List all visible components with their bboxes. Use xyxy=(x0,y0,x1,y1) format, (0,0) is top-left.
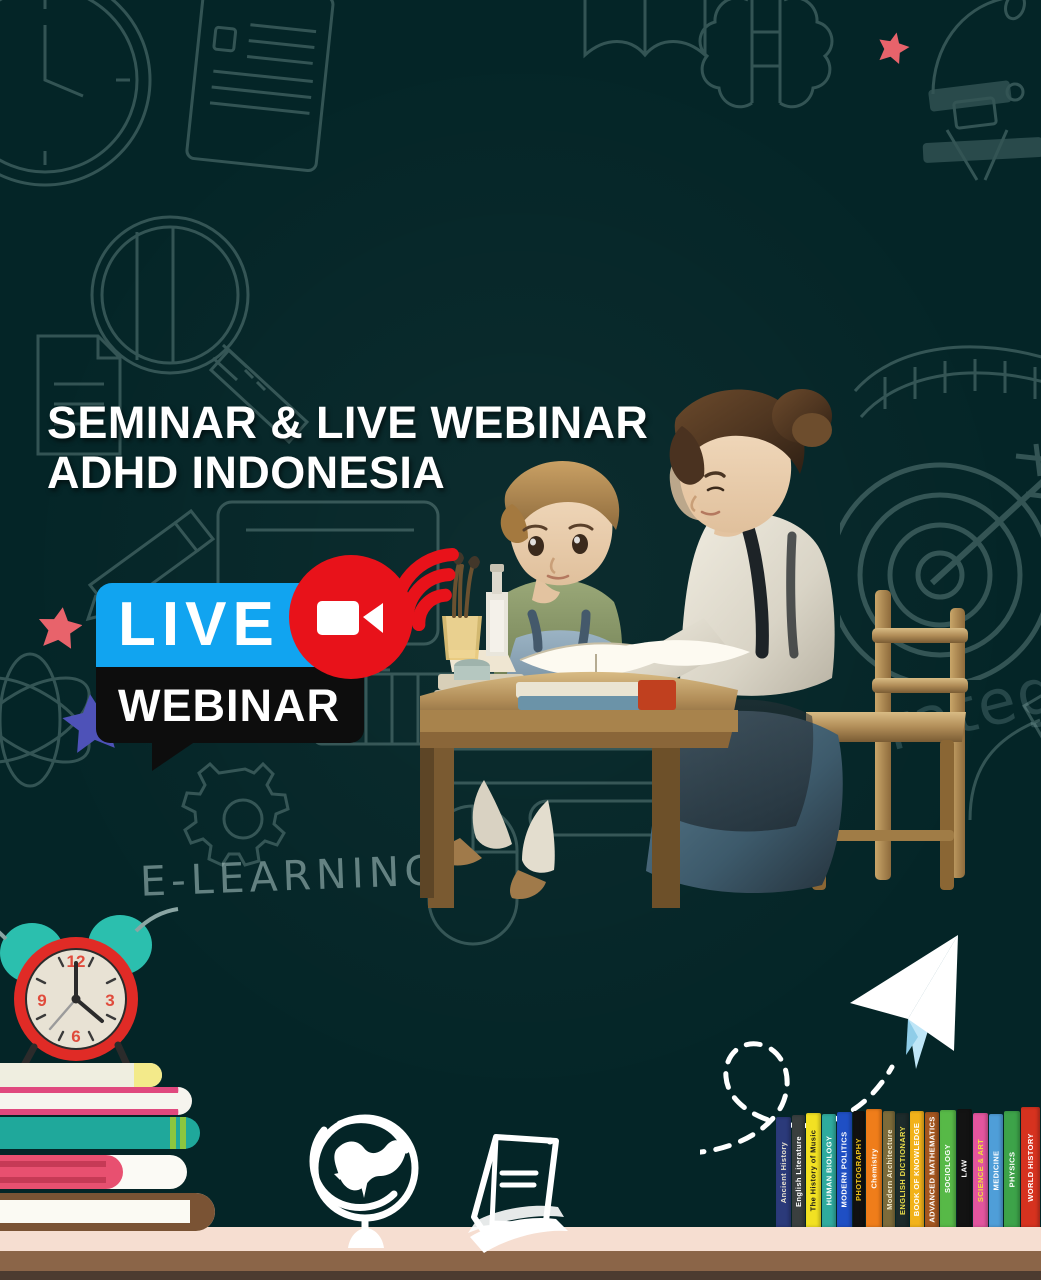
book-spine-title: PHOTOGRAPHY xyxy=(854,1137,863,1200)
star-red-small-icon xyxy=(876,30,910,64)
video-camera-badge[interactable] xyxy=(289,555,413,679)
book-spine-title: MODERN POLITICS xyxy=(840,1131,849,1207)
webinar-label-bar: WEBINAR xyxy=(96,667,364,743)
book-row: Ancient HistoryEnglish LiteratureThe His… xyxy=(776,1107,1041,1227)
webinar-label: WEBINAR xyxy=(118,683,340,728)
book-spine: LAW xyxy=(957,1109,973,1227)
book-spine-title: MEDICINE xyxy=(991,1151,1000,1191)
paper-airplane-icon xyxy=(850,935,958,1069)
book-spine-title: Modern Architecture xyxy=(885,1129,894,1210)
book-spine: MEDICINE xyxy=(989,1114,1004,1227)
book-spine: ENGLISH DICTIONARY xyxy=(896,1113,909,1227)
clipboard-doodle-icon xyxy=(175,0,355,180)
book-spine-title: BOOK OF KNOWLEDGE xyxy=(912,1122,921,1215)
globe-icon xyxy=(300,1102,430,1252)
book-spine-title: Ancient History xyxy=(779,1141,788,1202)
poster-canvas: rateg xyxy=(0,0,1041,1280)
star-red-icon xyxy=(36,604,82,650)
book-spine: The History of Music xyxy=(806,1113,821,1227)
book-spine: Ancient History xyxy=(776,1117,791,1227)
book-spine-title: PHYSICS xyxy=(1007,1151,1016,1187)
book-spine-title: WORLD HISTORY xyxy=(1026,1133,1035,1202)
book-spine: English Literature xyxy=(792,1115,806,1227)
live-label: LIVE xyxy=(118,594,280,656)
svg-text:9: 9 xyxy=(37,991,46,1010)
elearning-chalk-text: E-LEARNING xyxy=(139,846,442,906)
title-line-1: SEMINAR & LIVE WEBINAR xyxy=(47,398,648,448)
book-spine: PHOTOGRAPHY xyxy=(853,1111,866,1227)
brain-doodle-icon xyxy=(680,0,880,160)
book-spine: WORLD HISTORY xyxy=(1021,1107,1040,1227)
svg-text:6: 6 xyxy=(71,1027,80,1046)
book-spine: BOOK OF KNOWLEDGE xyxy=(910,1111,924,1227)
page-title: SEMINAR & LIVE WEBINAR ADHD INDONESIA xyxy=(47,398,648,498)
book-spine-title: English Literature xyxy=(794,1136,803,1207)
alarm-clock-and-books: 12 3 6 9 xyxy=(0,905,284,1280)
book-spine: Chemistry xyxy=(866,1109,882,1227)
live-webinar-badge[interactable]: LIVE WEBINAR xyxy=(96,583,364,743)
clock-doodle-icon xyxy=(0,0,160,195)
microscope-doodle-icon xyxy=(855,0,1041,190)
book-spine: HUMAN BIOLOGY xyxy=(822,1114,837,1227)
gear-doodle-icon xyxy=(180,755,310,885)
book-spine: MODERN POLITICS xyxy=(837,1112,852,1227)
book-spine-title: Chemistry xyxy=(870,1148,879,1188)
svg-text:3: 3 xyxy=(105,991,114,1010)
book-spine-title: SOCIOLOGY xyxy=(943,1144,952,1193)
title-line-2: ADHD INDONESIA xyxy=(47,448,648,498)
video-camera-icon xyxy=(315,593,387,641)
book-spine-title: SCIENCE & ART xyxy=(976,1138,985,1201)
open-book-doodle-icon xyxy=(565,0,725,95)
book-spine-title: ENGLISH DICTIONARY xyxy=(898,1125,907,1214)
tablet-book-icon xyxy=(440,1129,575,1254)
book-spine-title: HUMAN BIOLOGY xyxy=(824,1136,833,1206)
book-spine-title: ADVANCED MATHEMATICS xyxy=(927,1116,936,1222)
book-spine: SCIENCE & ART xyxy=(973,1113,988,1227)
book-spine: SOCIOLOGY xyxy=(940,1110,956,1227)
book-spine: Modern Architecture xyxy=(883,1111,896,1227)
book-spine: ADVANCED MATHEMATICS xyxy=(925,1112,940,1227)
book-spine-title: LAW xyxy=(960,1159,969,1177)
book-spine-title: The History of Music xyxy=(809,1129,818,1211)
speech-bubble-tail xyxy=(152,741,196,771)
book-spine: PHYSICS xyxy=(1004,1111,1020,1227)
